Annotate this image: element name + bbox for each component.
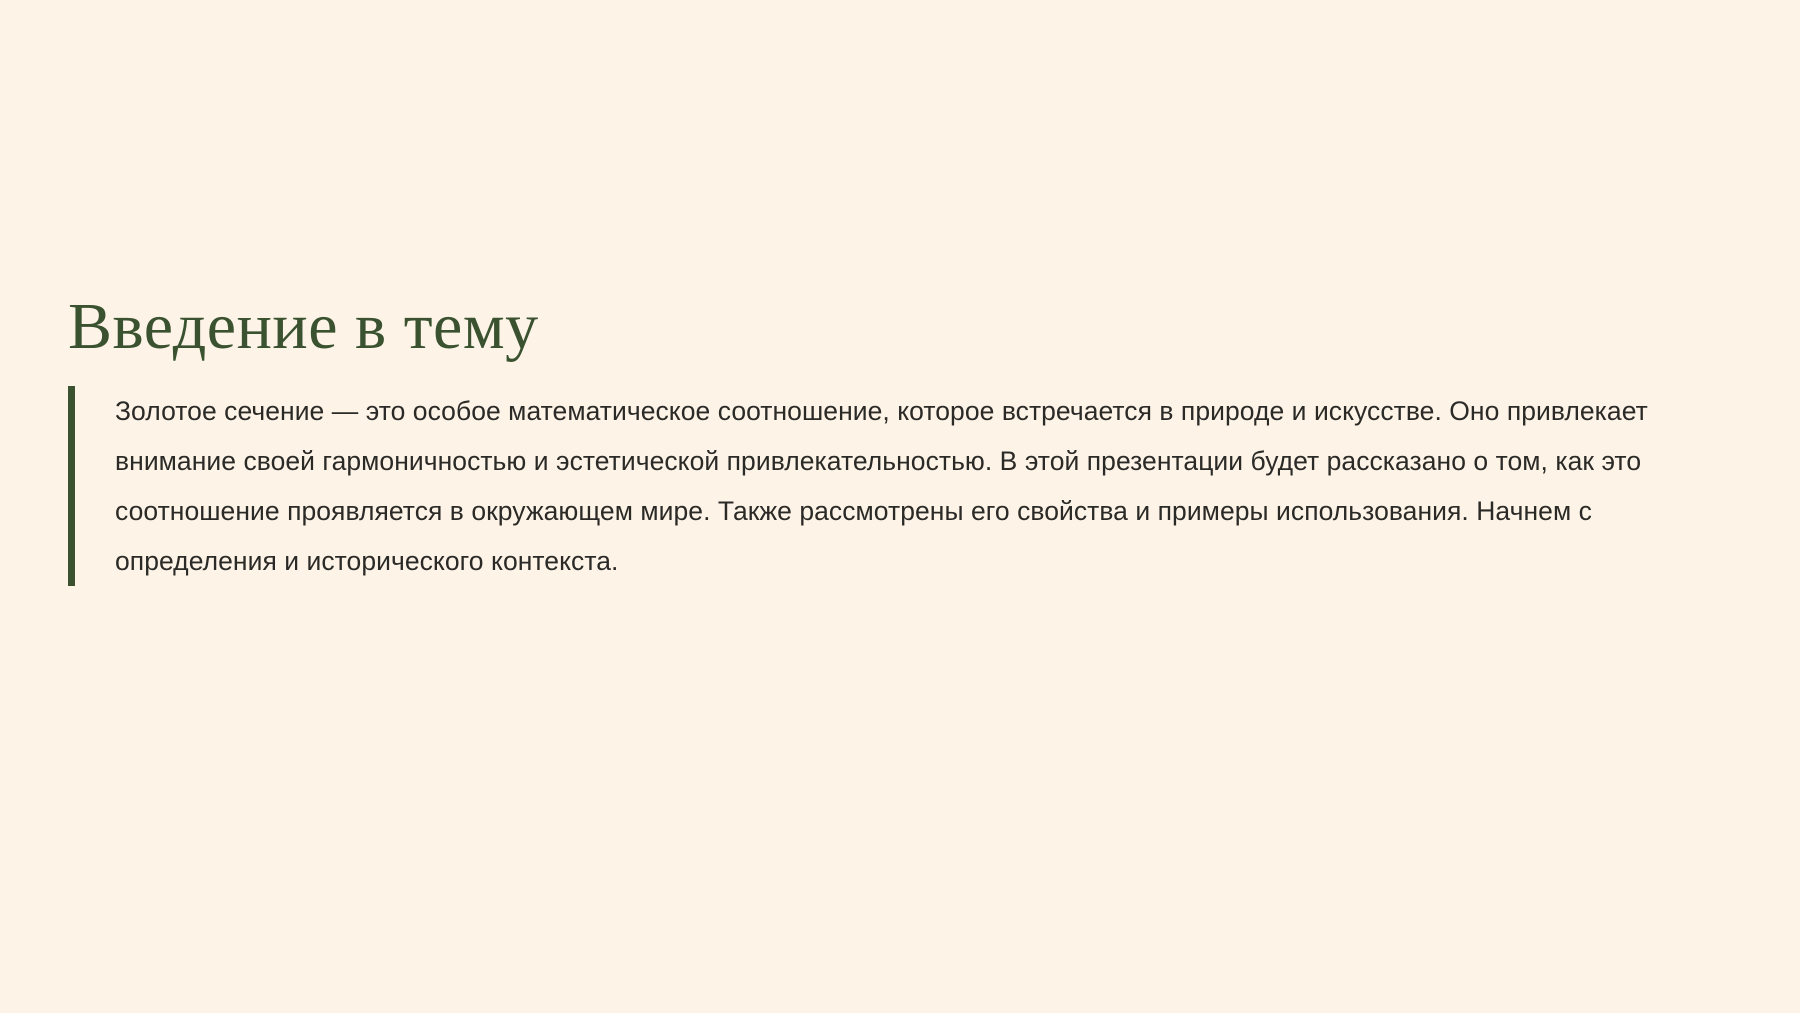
accent-bar [68, 386, 75, 586]
body-text-block: Золотое сечение — это особое математичес… [68, 386, 1740, 586]
presentation-slide: Введение в тему Золотое сечение — это ос… [0, 0, 1800, 1013]
slide-content: Введение в тему Золотое сечение — это ос… [68, 290, 1740, 586]
slide-title: Введение в тему [68, 290, 1740, 364]
slide-body-paragraph: Золотое сечение — это особое математичес… [115, 386, 1703, 586]
